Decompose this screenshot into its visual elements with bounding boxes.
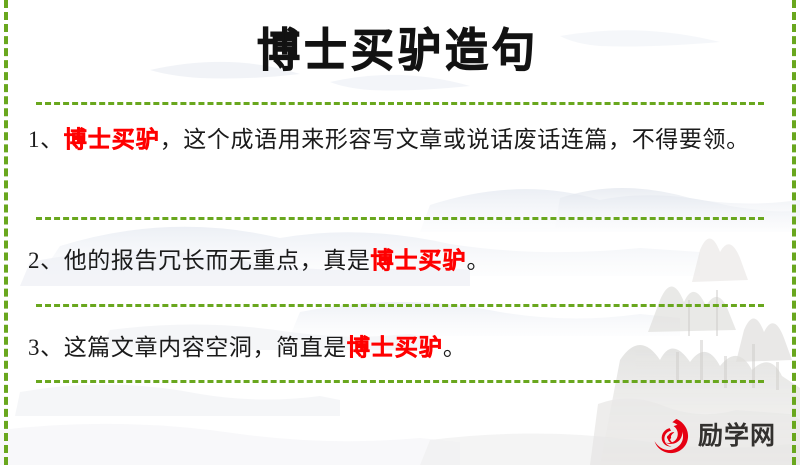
sentence-3-lead: 这篇文章内容空洞，简直是	[64, 335, 347, 360]
sentence-2-lead: 他的报告冗长而无重点，真是	[64, 248, 371, 273]
sentence-3-highlight: 博士买驴	[347, 335, 443, 360]
title-row: 博士买驴造句	[18, 0, 778, 102]
divider-4	[36, 380, 764, 383]
sentence-2-highlight: 博士买驴	[371, 248, 467, 273]
sentence-2-rest: 。	[467, 248, 491, 273]
sentence-item-3: 3、这篇文章内容空洞，简直是博士买驴。	[18, 307, 778, 380]
content-area: 博士买驴造句 1、博士买驴，这个成语用来形容写文章或说话废话连篇，不得要领。 2…	[0, 0, 800, 465]
page-title: 博士买驴造句	[257, 28, 539, 74]
sentence-1-highlight: 博士买驴	[64, 127, 160, 152]
sentence-3-rest: 。	[443, 335, 467, 360]
sentence-1-index: 1、	[28, 127, 64, 152]
sentence-2-index: 2、	[28, 248, 64, 273]
sentence-item-1: 1、博士买驴，这个成语用来形容写文章或说话废话连篇，不得要领。	[18, 105, 778, 217]
brand-watermark[interactable]: 励学网	[650, 415, 776, 457]
sentence-item-2: 2、他的报告冗长而无重点，真是博士买驴。	[18, 220, 778, 304]
brand-name: 励学网	[698, 424, 776, 449]
page-root: 博士买驴造句 1、博士买驴，这个成语用来形容写文章或说话废话连篇，不得要领。 2…	[0, 0, 800, 465]
right-dashed-border	[792, 0, 796, 465]
left-dashed-border	[4, 0, 8, 465]
flame-swirl-icon	[650, 415, 692, 457]
sentence-1-rest: ，这个成语用来形容写文章或说话废话连篇，不得要领。	[160, 127, 750, 152]
sentence-3-index: 3、	[28, 335, 64, 360]
